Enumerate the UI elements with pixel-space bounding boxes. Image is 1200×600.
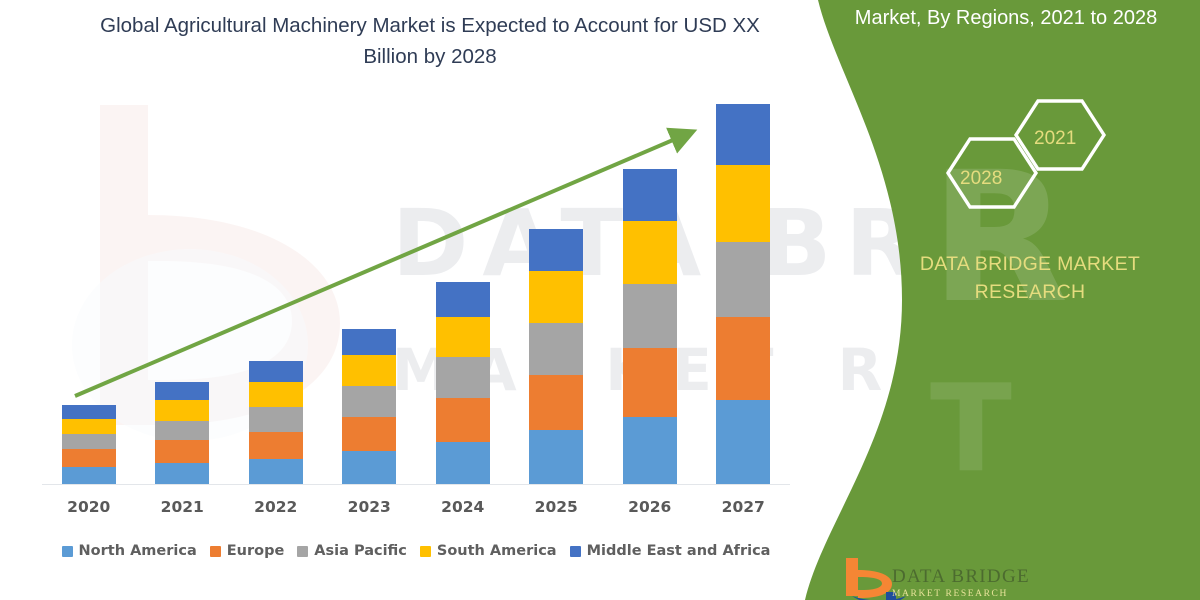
bar-segment <box>529 271 583 323</box>
brand-name-line2: RESEARCH <box>975 281 1086 303</box>
x-axis-label: 2024 <box>428 498 498 516</box>
bar-column <box>62 405 116 484</box>
legend-label: South America <box>437 543 557 559</box>
legend-item[interactable]: South America <box>420 543 557 559</box>
x-axis-label: 2023 <box>334 498 404 516</box>
legend-item[interactable]: North America <box>62 543 197 559</box>
bar-segment <box>436 282 490 317</box>
bar-segment <box>249 382 303 407</box>
hexagon-badges <box>920 95 1130 235</box>
bar-segment <box>623 221 677 284</box>
legend-label: Asia Pacific <box>314 543 407 559</box>
bar-column <box>249 361 303 484</box>
bar-segment <box>716 104 770 165</box>
chart-axis-line <box>42 484 790 485</box>
bar-column <box>529 229 583 484</box>
bar-segment <box>623 169 677 221</box>
bar-segment <box>716 317 770 400</box>
x-axis-label: 2022 <box>241 498 311 516</box>
panel-title: Market, By Regions, 2021 to 2028 <box>826 5 1186 32</box>
legend-item[interactable]: Europe <box>210 543 285 559</box>
svg-text:T: T <box>930 360 1012 499</box>
bar-segment <box>62 449 116 466</box>
bar-segment <box>342 451 396 484</box>
bar-segment <box>436 442 490 484</box>
bar-column <box>716 104 770 484</box>
legend-label: North America <box>79 543 197 559</box>
bar-column <box>436 282 490 484</box>
legend-swatch <box>62 546 73 557</box>
brand-name: DATA BRIDGE MARKET RESEARCH <box>880 250 1180 307</box>
bar-segment <box>529 323 583 375</box>
legend-swatch <box>420 546 431 557</box>
x-axis-label: 2025 <box>521 498 591 516</box>
logo-wordmark: DATA BRIDGE <box>892 566 1030 588</box>
legend-label: Europe <box>227 543 285 559</box>
x-axis-label: 2026 <box>615 498 685 516</box>
brand-name-line1: DATA BRIDGE MARKET <box>920 253 1140 275</box>
bar-segment <box>155 382 209 399</box>
legend-label: Middle East and Africa <box>587 543 771 559</box>
bar-segment <box>249 407 303 432</box>
bar-segment <box>716 165 770 242</box>
bar-segment <box>155 400 209 421</box>
bar-segment <box>249 361 303 382</box>
bar-segment <box>529 430 583 484</box>
bar-segment <box>342 329 396 356</box>
bar-segment <box>436 398 490 442</box>
bar-segment <box>62 419 116 434</box>
chart-legend: North AmericaEuropeAsia PacificSouth Ame… <box>42 538 790 564</box>
bar-column <box>342 329 396 484</box>
bar-segment <box>62 434 116 449</box>
bar-segment <box>155 440 209 463</box>
bar-column <box>155 382 209 484</box>
infographic-canvas: DATA BRIDGE MARKET RESEARCH Global Agric… <box>0 0 1200 600</box>
bar-segment <box>342 417 396 452</box>
bar-segment <box>249 432 303 459</box>
legend-item[interactable]: Middle East and Africa <box>570 543 771 559</box>
legend-item[interactable]: Asia Pacific <box>297 543 407 559</box>
bar-segment <box>62 467 116 484</box>
bar-segment <box>342 386 396 417</box>
bar-segment <box>529 229 583 271</box>
hexagon-2021-label: 2021 <box>1034 128 1076 150</box>
chart-title: Global Agricultural Machinery Market is … <box>70 10 790 72</box>
legend-swatch <box>570 546 581 557</box>
x-axis-label: 2021 <box>147 498 217 516</box>
stacked-bar-series-group <box>42 100 790 484</box>
hexagon-2028-label: 2028 <box>960 168 1002 190</box>
bar-segment <box>155 463 209 484</box>
bar-segment <box>155 421 209 440</box>
x-axis-label: 2020 <box>54 498 124 516</box>
bar-column <box>623 169 677 484</box>
bar-segment <box>716 400 770 484</box>
bar-segment <box>623 284 677 347</box>
legend-swatch <box>210 546 221 557</box>
bar-segment <box>436 357 490 397</box>
bar-segment <box>62 405 116 418</box>
bar-segment <box>436 317 490 357</box>
bar-segment <box>529 375 583 431</box>
bar-segment <box>249 459 303 484</box>
legend-swatch <box>297 546 308 557</box>
x-axis-tick-labels: 20202021202220232024202520262027 <box>42 498 790 524</box>
bar-segment <box>716 242 770 317</box>
bar-segment <box>342 355 396 386</box>
bar-segment <box>623 348 677 417</box>
bar-segment <box>623 417 677 484</box>
logo-tagline: MARKET RESEARCH <box>892 589 1008 599</box>
x-axis-label: 2027 <box>708 498 778 516</box>
